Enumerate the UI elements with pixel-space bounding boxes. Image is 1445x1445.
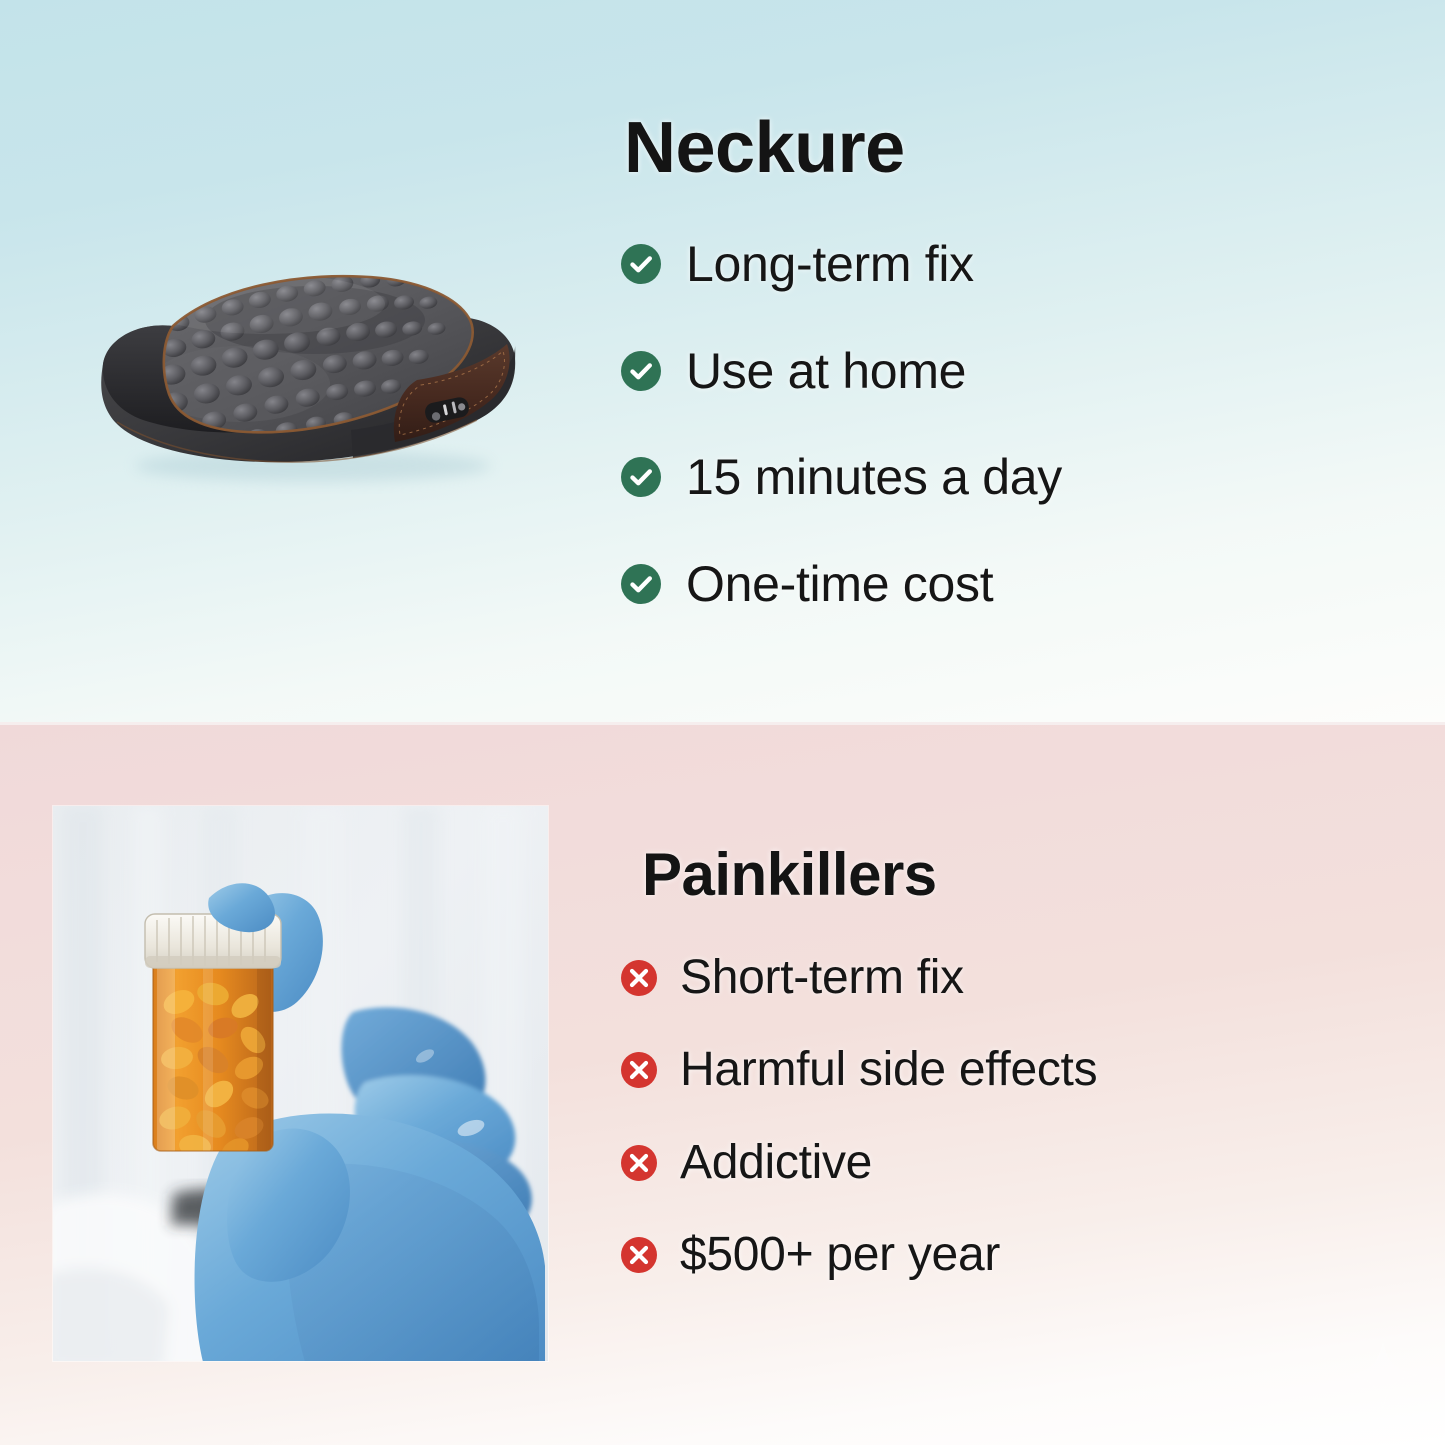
x-circle-icon bbox=[620, 1236, 658, 1274]
list-item: 15 minutes a day bbox=[620, 451, 1445, 504]
x-circle-icon bbox=[620, 959, 658, 997]
painkillers-content-column: Painkillers Short-term fix bbox=[600, 722, 1445, 1445]
neckure-content-column: Neckure Long-term fix bbox=[600, 0, 1445, 722]
x-circle-icon bbox=[620, 1144, 658, 1182]
neckure-panel: Neckure Long-term fix bbox=[0, 0, 1445, 722]
list-item-label: $500+ per year bbox=[680, 1230, 1000, 1280]
list-item: Use at home bbox=[620, 345, 1445, 398]
list-item-label: Short-term fix bbox=[680, 953, 964, 1003]
list-item: Addictive bbox=[620, 1138, 1445, 1188]
list-item-label: 15 minutes a day bbox=[686, 451, 1062, 504]
check-circle-icon bbox=[620, 243, 662, 285]
section-title: Painkillers bbox=[642, 845, 1445, 905]
neckure-benefit-list: Long-term fix Use at home bbox=[620, 238, 1445, 610]
x-circle-icon bbox=[620, 1051, 658, 1089]
painkillers-drawback-list: Short-term fix Harmful side effects bbox=[620, 953, 1445, 1323]
list-item-label: One-time cost bbox=[686, 558, 993, 611]
list-item: One-time cost bbox=[620, 558, 1445, 611]
list-item: Short-term fix bbox=[620, 953, 1445, 1003]
painkillers-media-column bbox=[0, 722, 600, 1445]
list-item-label: Long-term fix bbox=[686, 238, 974, 291]
painkillers-panel: Painkillers Short-term fix bbox=[0, 722, 1445, 1445]
check-circle-icon bbox=[620, 350, 662, 392]
list-item-label: Addictive bbox=[680, 1138, 872, 1188]
neck-massage-pillow-image bbox=[65, 234, 535, 494]
neckure-media-column bbox=[0, 0, 600, 722]
check-circle-icon bbox=[620, 563, 662, 605]
list-item: $500+ per year bbox=[620, 1230, 1445, 1280]
list-item: Harmful side effects bbox=[620, 1045, 1445, 1095]
list-item-label: Use at home bbox=[686, 345, 966, 398]
list-item: Long-term fix bbox=[620, 238, 1445, 291]
check-circle-icon bbox=[620, 456, 662, 498]
page-title: Neckure bbox=[624, 112, 1445, 184]
list-item-label: Harmful side effects bbox=[680, 1045, 1097, 1095]
pill-bottle-photo bbox=[53, 806, 548, 1361]
comparison-infographic: Neckure Long-term fix bbox=[0, 0, 1445, 1445]
